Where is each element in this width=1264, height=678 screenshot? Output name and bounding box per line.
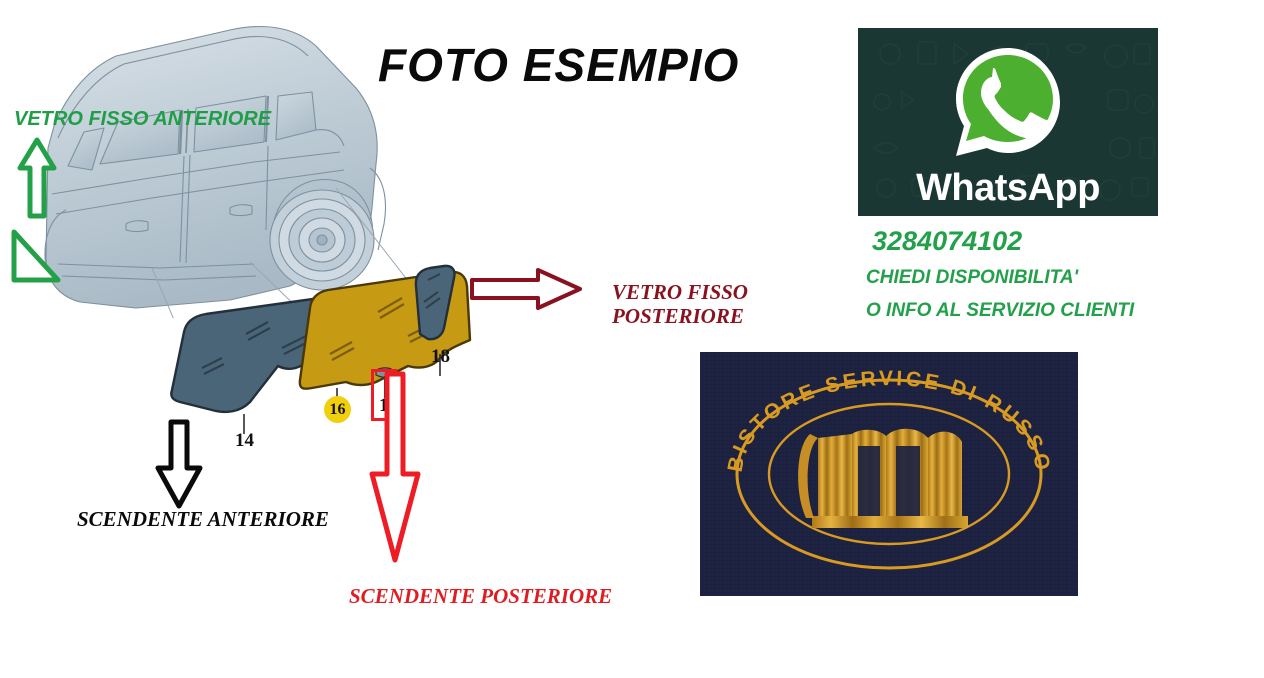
- label-scendente-posteriore: SCENDENTE POSTERIORE: [349, 585, 612, 609]
- contact-line-1: CHIEDI DISPONIBILITA': [866, 267, 1078, 289]
- down-arrow-red-icon: [366, 370, 424, 566]
- part-number-16-badge: 16: [324, 396, 351, 423]
- label-vfp-line2: POSTERIORE: [612, 305, 748, 329]
- right-arrow-dark-red-icon: [468, 266, 584, 312]
- page-title: FOTO ESEMPIO: [378, 38, 739, 92]
- label-vfp-line1: VETRO FISSO: [612, 281, 748, 305]
- label-vetro-fisso-posteriore: VETRO FISSO POSTERIORE: [612, 281, 748, 328]
- label-scendente-anteriore: SCENDENTE ANTERIORE: [77, 508, 329, 532]
- shop-logo-emblem: MRICAMBISTORE SERVICE DI RUSSO MARCO: [700, 352, 1078, 596]
- poster-canvas: 14 16 17 18 FOTO ESEMPIO VETRO FISSO ANT…: [0, 0, 1264, 678]
- whatsapp-wordmark: WhatsApp: [858, 167, 1158, 210]
- contact-line-2: O INFO AL SERVIZIO CLIENTI: [866, 300, 1134, 322]
- shop-logo-image: MRICAMBISTORE SERVICE DI RUSSO MARCO: [700, 352, 1078, 596]
- part-number-14: 14: [235, 430, 254, 452]
- up-arrow-green-icon: [16, 136, 58, 220]
- down-arrow-black-icon: [152, 418, 206, 510]
- whatsapp-phone-number: 3284074102: [872, 226, 1022, 257]
- part-number-18: 18: [431, 346, 450, 368]
- triangle-green-icon: [8, 226, 64, 288]
- label-vetro-fisso-anteriore: VETRO FISSO ANTERIORE: [14, 108, 271, 130]
- whatsapp-logo-icon: [948, 42, 1068, 162]
- whatsapp-banner: WhatsApp: [858, 28, 1158, 216]
